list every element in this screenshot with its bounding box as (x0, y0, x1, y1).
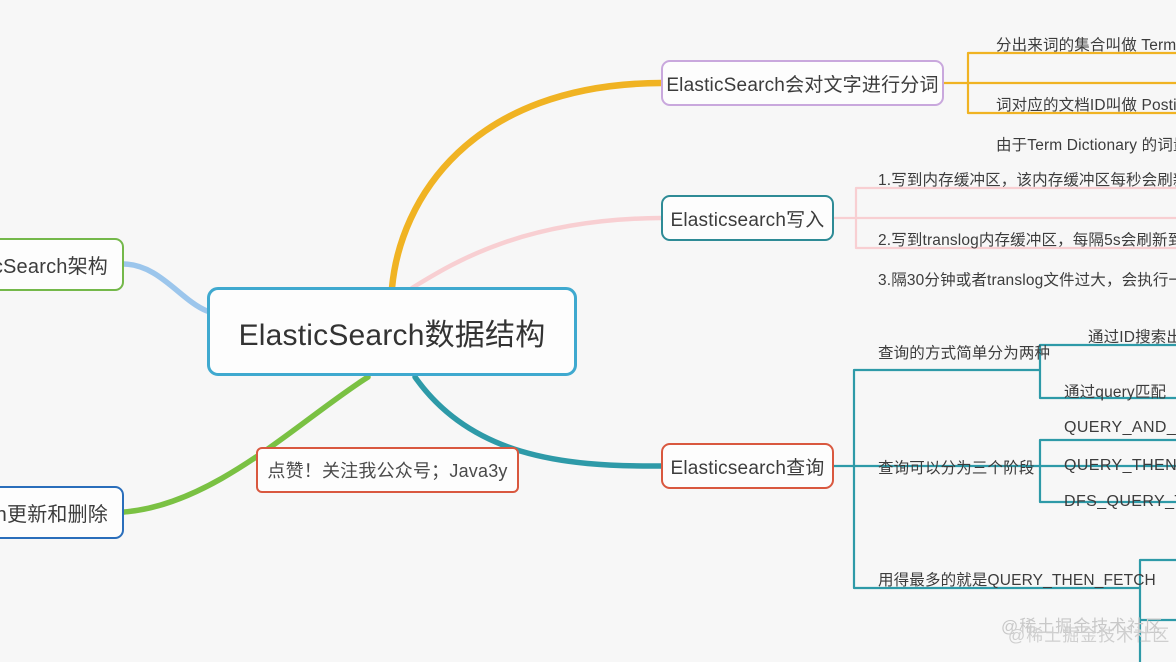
leaf-query-ways[interactable]: 查询的方式简单分为两种 (878, 341, 1050, 363)
branch-node-update-delete[interactable]: ch更新和删除 (0, 486, 124, 539)
branch-node-update-delete-label: ch更新和删除 (0, 498, 108, 527)
leaf-write-2[interactable]: 2.写到translog内存缓冲区，每隔5s会刷新到磁盘 (878, 228, 1176, 250)
wire-phases-bracket (1040, 440, 1052, 502)
leaf-phase-query-and-fetch[interactable]: QUERY_AND_F (1064, 419, 1176, 437)
central-topic[interactable]: ElasticSearch数据结构 (207, 287, 577, 376)
branch-node-tokenization[interactable]: ElasticSearch会对文字进行分词 (661, 60, 944, 106)
wire-chaxun-bracket (854, 370, 866, 588)
wire-fenci-bracket (968, 53, 978, 113)
branch-node-tokenization-label: ElasticSearch会对文字进行分词 (666, 70, 938, 97)
branch-node-write-label: Elasticsearch写入 (671, 205, 825, 232)
wire-central-to-fenci (392, 83, 661, 288)
branch-node-architecture-label: ticSearch架构 (0, 250, 108, 279)
leaf-query-way-by-query[interactable]: 通过query匹配 (1064, 380, 1166, 402)
mindmap-canvas[interactable]: ElasticSearch数据结构 ElasticSearch会对文字进行分词 … (0, 0, 1176, 662)
leaf-phase-dfs-query-then-fetch[interactable]: DFS_QUERY_T (1064, 493, 1176, 511)
leaf-tokenization-3[interactable]: 由于Term Dictionary 的词量太 (996, 133, 1176, 155)
leaf-tokenization-2[interactable]: 词对应的文档ID叫做 Posting (996, 93, 1176, 115)
branch-node-query-label: Elasticsearch查询 (671, 453, 825, 480)
branch-node-architecture[interactable]: ticSearch架构 (0, 238, 124, 291)
leaf-phase-query-then-fetch[interactable]: QUERY_THEN_ (1064, 457, 1176, 475)
leaf-query-most-used[interactable]: 用得最多的就是QUERY_THEN_FETCH (878, 568, 1156, 590)
leaf-write-3[interactable]: 3.隔30分钟或者translog文件过大，会执行一次c (878, 268, 1176, 290)
leaf-query-phases[interactable]: 查询可以分为三个阶段 (878, 456, 1035, 478)
leaf-query-way-by-id[interactable]: 通过ID搜索出 (1088, 325, 1176, 347)
wire-central-to-xieru (412, 218, 661, 288)
watermark-label-ghost: @稀土掘金技术社区 (1008, 621, 1170, 646)
watermark: @稀土掘金技术社区 @稀土掘金技术社区 (1001, 612, 1163, 637)
promo-note-label: 点赞！关注我公众号；Java3y (267, 457, 507, 483)
central-topic-label: ElasticSearch数据结构 (239, 310, 546, 354)
branch-node-query[interactable]: Elasticsearch查询 (661, 443, 834, 489)
branch-node-write[interactable]: Elasticsearch写入 (661, 195, 834, 241)
leaf-write-1[interactable]: 1.写到内存缓冲区，该内存缓冲区每秒会刷新到文 (878, 168, 1176, 190)
promo-note[interactable]: 点赞！关注我公众号；Java3y (256, 447, 519, 493)
wire-xieru-bracket (856, 188, 866, 248)
wire-central-to-jiagou (124, 264, 207, 311)
leaf-tokenization-1[interactable]: 分出来词的集合叫做 Term Dic (996, 33, 1176, 55)
